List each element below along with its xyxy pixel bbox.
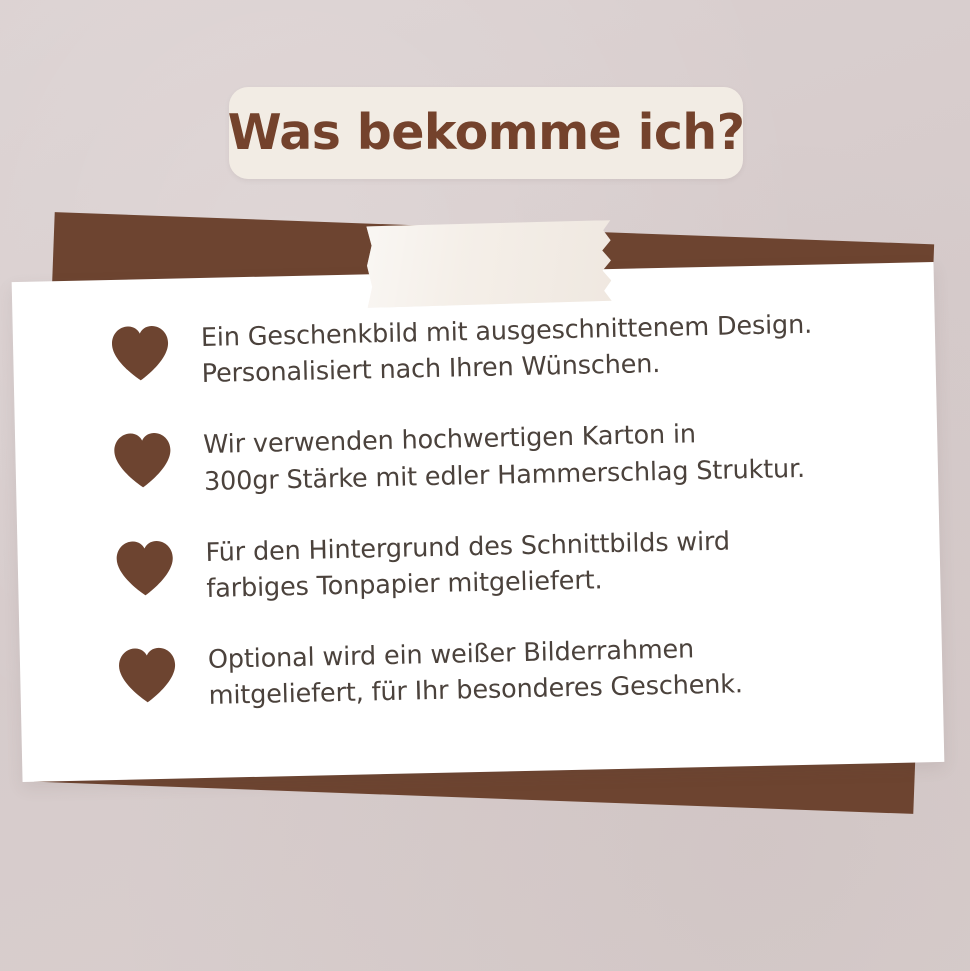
white-content-card: Ein Geschenkbild mit ausgeschnittenem De… — [12, 262, 945, 782]
list-item: Für den Hintergrund des Schnittbilds wir… — [113, 518, 900, 610]
list-item-line2: farbiges Tonpapier mitgeliefert. — [206, 560, 731, 608]
heart-icon — [111, 431, 174, 490]
slide-canvas: Was bekomme ich? Ein Geschenkbild mit au… — [0, 0, 970, 971]
list-item-text: Ein Geschenkbild mit ausgeschnittenem De… — [200, 305, 813, 393]
washi-tape-sheen — [366, 220, 611, 308]
heart-icon — [109, 324, 172, 383]
list-item-line2: mitgeliefert, für Ihr besonderes Geschen… — [208, 667, 743, 715]
list-item: Ein Geschenkbild mit ausgeschnittenem De… — [109, 303, 896, 395]
list-item: Optional wird ein weißer Bilderrahmen mi… — [116, 625, 903, 717]
benefits-list: Ein Geschenkbild mit ausgeschnittenem De… — [12, 262, 945, 782]
heart-icon — [116, 646, 179, 705]
list-item-text: Optional wird ein weißer Bilderrahmen mi… — [208, 628, 744, 714]
list-item: Wir verwenden hochwertigen Karton in 300… — [111, 410, 898, 502]
washi-tape — [366, 220, 611, 308]
list-item-text: Wir verwenden hochwertigen Karton in 300… — [203, 412, 806, 500]
page-title: Was bekomme ich? — [228, 108, 745, 157]
list-item-text: Für den Hintergrund des Schnittbilds wir… — [205, 521, 731, 607]
title-pill: Was bekomme ich? — [229, 87, 743, 179]
heart-icon — [113, 538, 176, 597]
